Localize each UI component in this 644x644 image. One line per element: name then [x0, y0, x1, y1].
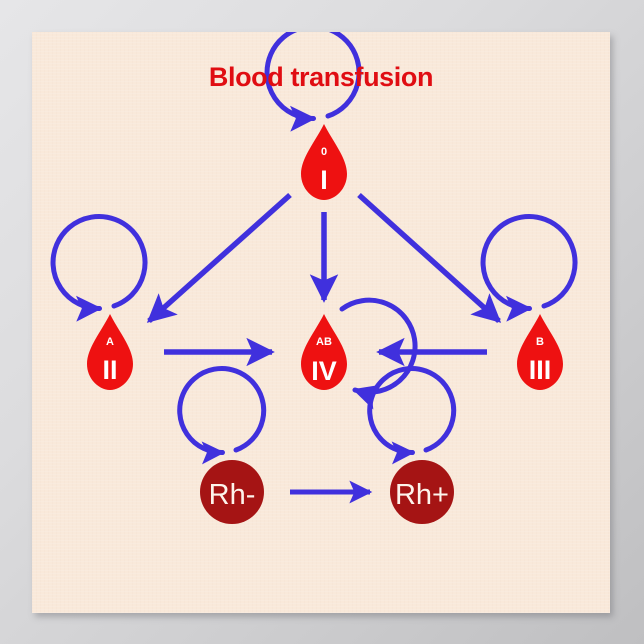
self-loop-rh-minus: [180, 369, 264, 453]
node-a[interactable]: A II: [53, 217, 145, 390]
node-a-roman-label: II: [102, 355, 117, 385]
self-loop-a: [53, 217, 145, 309]
poster-sheet: Blood transfusion: [32, 32, 610, 613]
node-b[interactable]: B III: [483, 217, 575, 390]
poster-stage: Blood transfusion: [0, 0, 644, 644]
node-b-roman-label: III: [529, 355, 552, 385]
node-rh-minus-label: Rh-: [209, 479, 256, 511]
node-b-antigen-label: B: [536, 336, 544, 348]
node-ab[interactable]: AB IV: [301, 300, 415, 392]
node-a-antigen-label: A: [106, 336, 114, 348]
node-ab-antigen-label: AB: [316, 336, 332, 348]
blood-transfusion-diagram: 0 I A II AB IV: [32, 32, 610, 613]
self-loop-b: [483, 217, 575, 309]
page-title: Blood transfusion: [32, 62, 610, 93]
self-loop-rh-plus: [370, 369, 454, 453]
node-rh-plus-label: Rh+: [395, 479, 449, 511]
arrow-o-to-a: [149, 195, 290, 321]
node-o-roman-label: I: [320, 165, 328, 195]
node-ab-roman-label: IV: [311, 356, 337, 386]
node-rh-minus[interactable]: Rh-: [180, 369, 264, 524]
node-o-antigen-label: 0: [321, 146, 327, 158]
self-loop-ab: [342, 300, 415, 392]
node-o[interactable]: 0 I: [267, 32, 359, 200]
